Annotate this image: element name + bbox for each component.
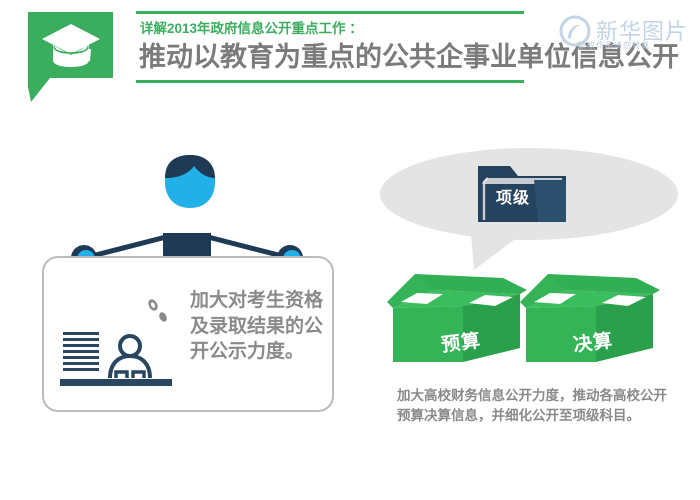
header-rule-bottom: [136, 80, 524, 83]
header-subtitle: 详解2013年政府信息公开重点工作 ：: [140, 17, 363, 37]
watermark: 新华图片 版权作品请勿转载: [558, 10, 696, 54]
logo-badge-tail: [28, 78, 54, 102]
student-head-icon: [160, 152, 220, 226]
sweat-drops-icon: [146, 298, 172, 326]
person-reading-document-icon: [60, 328, 172, 390]
watermark-notice: 版权作品请勿转载: [578, 40, 650, 51]
folder-label: 项级: [496, 184, 530, 208]
box-label-final-accounts: 决算: [572, 326, 615, 358]
graduation-cap-icon: [40, 22, 102, 68]
speech-bubble-tail: [470, 222, 530, 270]
left-panel-text: 加大对考生资格及录取结果的公开公示力度。: [190, 288, 325, 365]
right-panel-text: 加大高校财务信息公开力度，推动各高校公开预算决算信息，并细化公开至项级科目。: [397, 386, 677, 425]
box-label-budget: 预算: [440, 326, 483, 358]
infographic-canvas: 详解2013年政府信息公开重点工作 ： 推动以教育为重点的公共企事业单位信息公开…: [0, 0, 700, 500]
header-rule-top: [136, 11, 524, 14]
